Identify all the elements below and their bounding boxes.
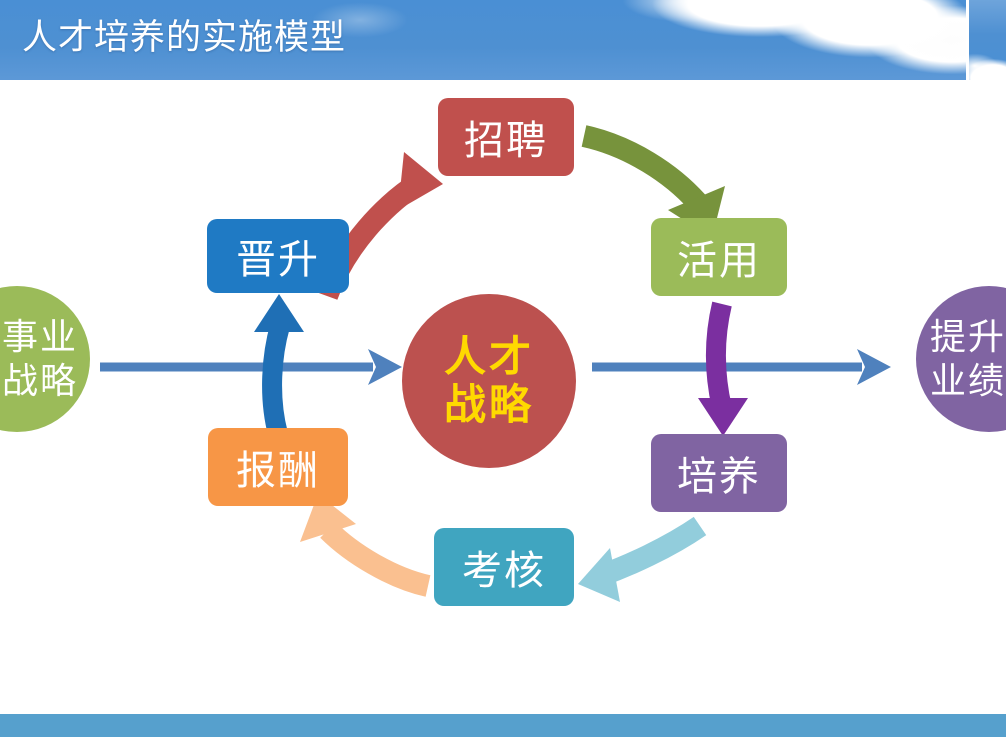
node-improve-performance-line1: 提升 [930, 315, 1006, 359]
title-banner: 人才培养的实施模型 [0, 0, 1006, 86]
node-talent-strategy-line2: 战略 [444, 381, 534, 429]
node-reward[interactable]: 报酬 [208, 428, 348, 506]
node-use[interactable]: 活用 [651, 218, 787, 296]
diagram-stage: 事业 战略 人才 战略 提升 业绩 招聘 活用 培养 考核 报酬 晋升 [0, 86, 1006, 680]
arrow-strategy-to-center [100, 349, 402, 385]
node-assess[interactable]: 考核 [434, 528, 574, 606]
node-talent-strategy-line1: 人才 [444, 333, 534, 381]
node-promote[interactable]: 晋升 [207, 219, 349, 293]
bottom-accent-bar [0, 714, 1006, 737]
node-talent-strategy[interactable]: 人才 战略 [402, 294, 576, 468]
arrow-develop-to-assess [578, 526, 700, 602]
node-recruit[interactable]: 招聘 [438, 98, 574, 176]
arrow-center-to-result [592, 349, 891, 385]
node-develop[interactable]: 培养 [651, 434, 787, 512]
node-business-strategy-line1: 事业 [2, 315, 78, 359]
node-business-strategy-line2: 战略 [2, 359, 78, 403]
arrow-assess-to-reward [300, 494, 428, 586]
slide-title: 人才培养的实施模型 [22, 14, 346, 62]
node-improve-performance-line2: 业绩 [930, 359, 1006, 403]
banner-right-cloud-panel [966, 0, 1006, 86]
